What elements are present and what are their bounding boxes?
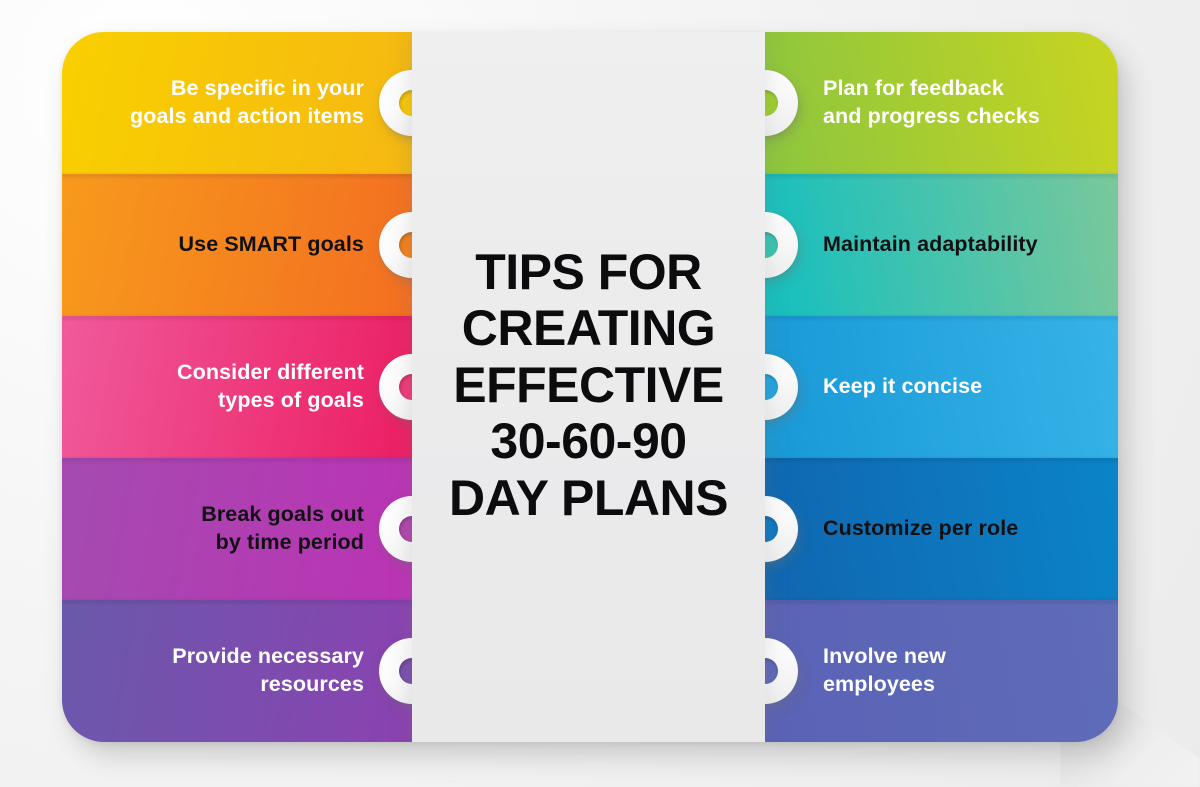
tip-band-left-4[interactable]: Break goals out by time period <box>62 458 412 600</box>
right-column: Plan for feedback and progress checksMai… <box>765 32 1118 742</box>
tip-label: Provide necessary resources <box>172 643 412 698</box>
infographic-card: Be specific in your goals and action ite… <box>62 32 1118 742</box>
tip-band-right-1[interactable]: Plan for feedback and progress checks <box>765 32 1118 174</box>
tip-label: Be specific in your goals and action ite… <box>130 75 412 130</box>
tip-band-right-3[interactable]: Keep it concise <box>765 316 1118 458</box>
tip-label: Maintain adaptability <box>765 231 1038 259</box>
tip-band-left-3[interactable]: Consider different types of goals <box>62 316 412 458</box>
tip-label: Consider different types of goals <box>177 359 412 414</box>
tip-band-right-4[interactable]: Customize per role <box>765 458 1118 600</box>
tip-band-left-2[interactable]: Use SMART goals <box>62 174 412 316</box>
tip-band-left-1[interactable]: Be specific in your goals and action ite… <box>62 32 412 174</box>
tip-label: Customize per role <box>765 515 1018 543</box>
tip-band-right-2[interactable]: Maintain adaptability <box>765 174 1118 316</box>
left-column: Be specific in your goals and action ite… <box>62 32 412 742</box>
tip-label: Plan for feedback and progress checks <box>765 75 1040 130</box>
page-title: TIPS FOR CREATING EFFECTIVE 30-60-90 DAY… <box>449 244 728 527</box>
tip-band-left-5[interactable]: Provide necessary resources <box>62 600 412 742</box>
tip-label: Use SMART goals <box>179 231 412 259</box>
tip-band-right-5[interactable]: Involve new employees <box>765 600 1118 742</box>
center-title-panel: TIPS FOR CREATING EFFECTIVE 30-60-90 DAY… <box>412 32 765 742</box>
